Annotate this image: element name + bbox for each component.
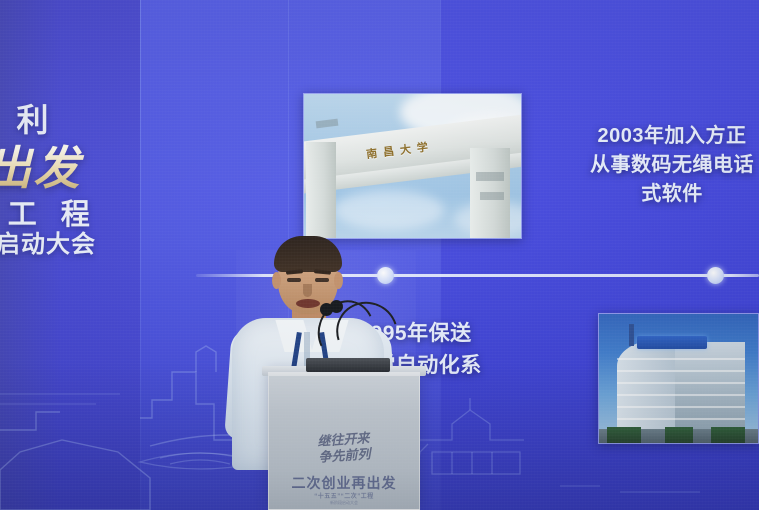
gate-slot xyxy=(476,172,504,181)
stage-photo: 利 出发 ” 工 程 段启动大会 2003年加入方正 从事数码无绳电话 式软件 … xyxy=(0,0,759,510)
hair xyxy=(274,236,342,272)
nose xyxy=(303,284,312,297)
building-floor-line xyxy=(617,406,745,408)
podium-sub-slogan-2: 新阶段启动大会 xyxy=(280,500,408,506)
building-rooftop-sign xyxy=(637,336,707,349)
building-curved-facade xyxy=(617,340,675,436)
tree-shape xyxy=(607,427,641,443)
gate-slot xyxy=(480,192,504,200)
cloud-shape xyxy=(334,190,444,230)
building-rooftop-pole xyxy=(629,324,634,346)
building-floor-line xyxy=(617,418,745,420)
right-caption-line1: 2003年加入方正 xyxy=(556,122,759,151)
mic-capsule-right xyxy=(330,300,343,313)
left-title-line4: 段启动大会 xyxy=(0,232,131,257)
mouth xyxy=(296,299,320,308)
right-caption-line3: 式软件 xyxy=(556,180,759,209)
gate-pillar-left xyxy=(306,142,336,238)
tree-shape xyxy=(711,427,745,443)
building-floor-line xyxy=(617,370,745,372)
left-title-line3: ” 工 程 xyxy=(0,200,131,230)
left-title-line1: 利 xyxy=(0,104,131,138)
ear-right xyxy=(334,272,343,289)
right-caption-line2: 从事数码无绳电话 xyxy=(556,151,759,180)
building-floor-line xyxy=(617,394,745,396)
university-gate-photo: 南昌大学 xyxy=(303,93,522,239)
office-building-photo xyxy=(598,313,759,444)
eye-left xyxy=(287,278,301,282)
building-floor-line xyxy=(617,382,745,384)
podium-front-edge xyxy=(268,372,420,376)
podium-main-slogan: 二次创业再出发 xyxy=(280,473,408,493)
timeline-node-icon xyxy=(707,267,724,284)
slide-left-title: 利 出发 ” 工 程 段启动大会 xyxy=(0,104,131,258)
podium-sub-slogan: “十五五”“二次”工程 xyxy=(280,491,408,500)
eye-right xyxy=(315,278,329,282)
ear-left xyxy=(272,272,281,289)
building-floor-line xyxy=(617,358,745,360)
left-title-line2: 出发 xyxy=(0,144,131,192)
slide-right-caption: 2003年加入方正 从事数码无绳电话 式软件 xyxy=(556,122,759,209)
tree-shape xyxy=(665,427,693,443)
